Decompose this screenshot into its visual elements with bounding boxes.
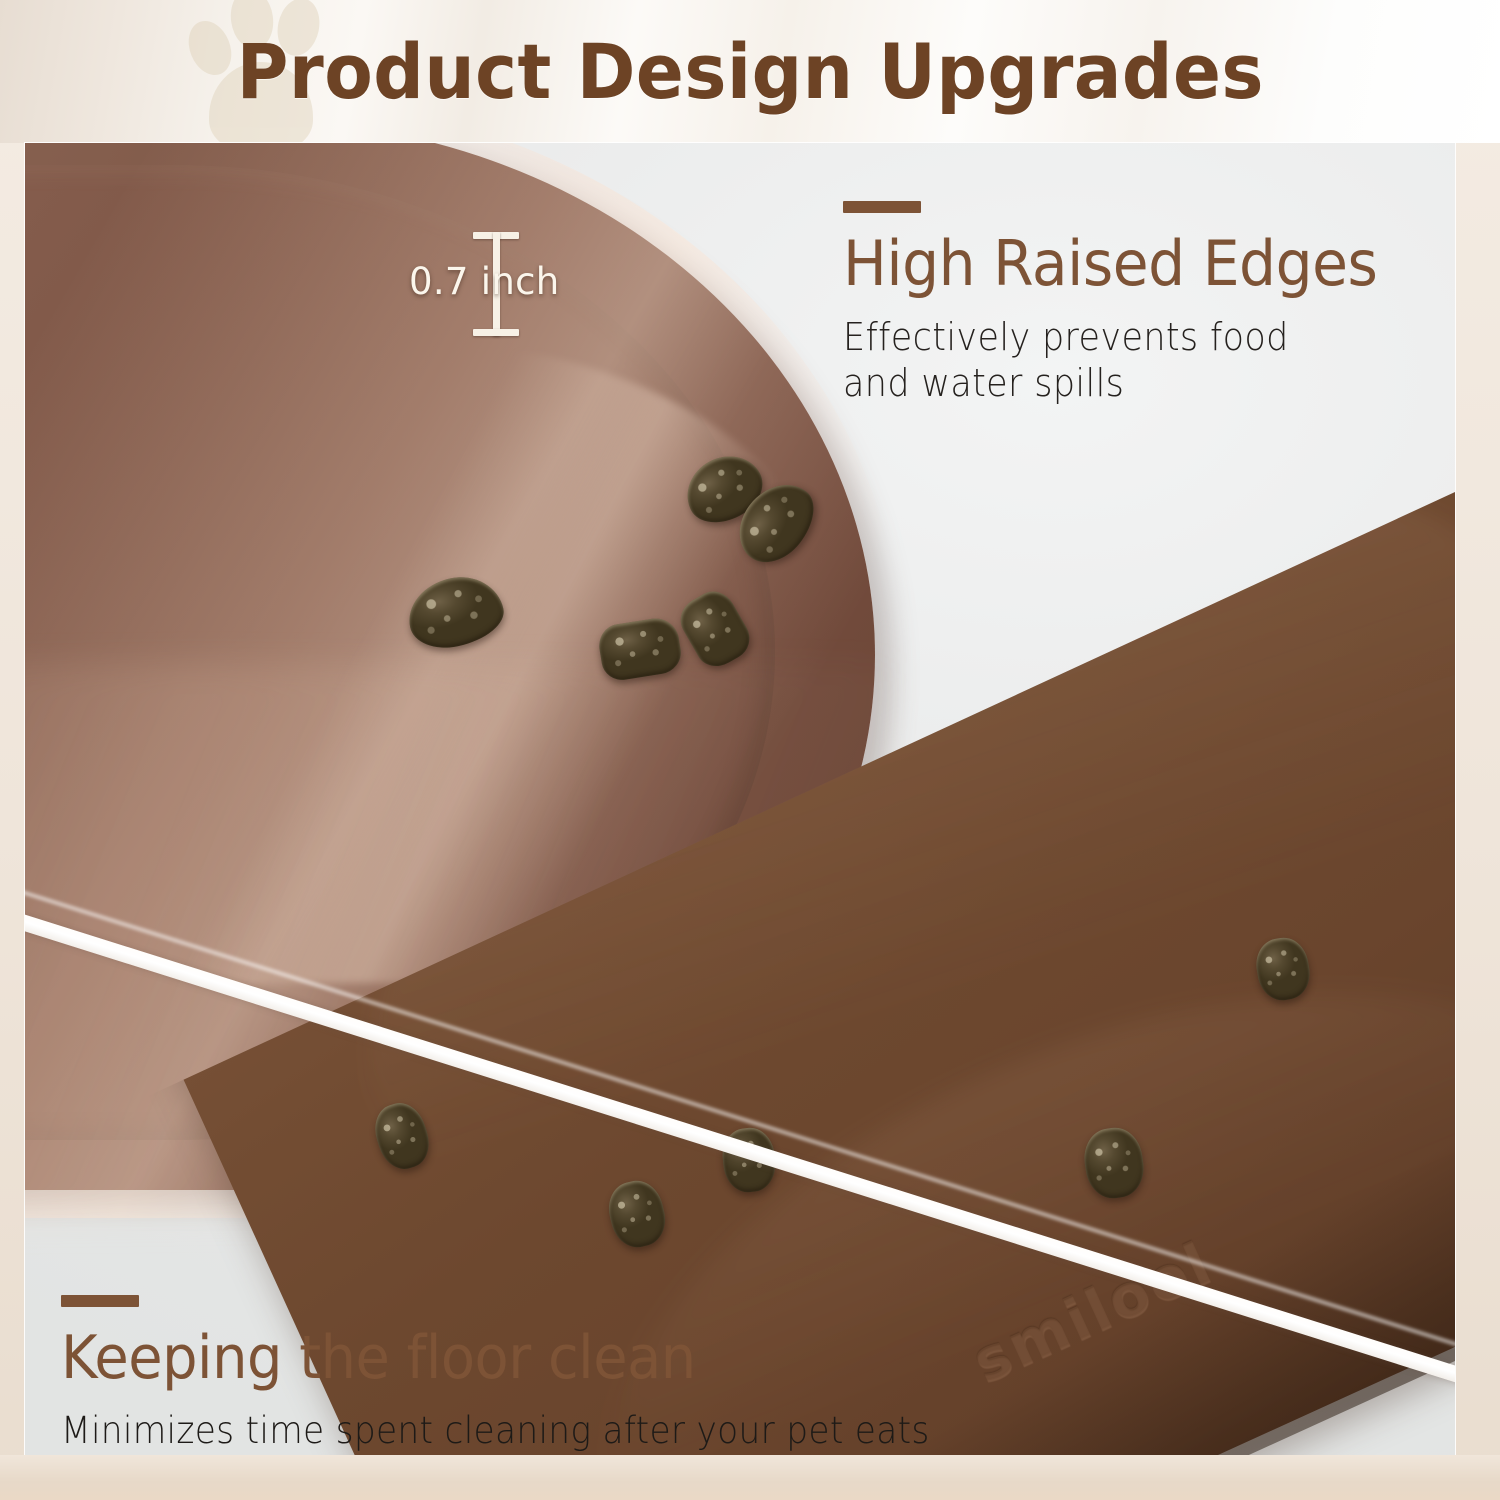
bottom-background-strip bbox=[0, 1455, 1500, 1500]
callout-accent-bar bbox=[61, 1295, 139, 1307]
product-infographic-page: Product Design Upgrades smilool bbox=[0, 0, 1500, 1500]
dimension-tick-bottom bbox=[473, 329, 519, 336]
callout-subtext-line2: and water spills bbox=[843, 360, 1366, 406]
banner: Product Design Upgrades bbox=[0, 0, 1500, 143]
callout-headline: High Raised Edges bbox=[843, 227, 1377, 300]
callout-accent-bar bbox=[843, 201, 921, 213]
callout-subtext-line1: Minimizes time spent cleaning after your… bbox=[61, 1409, 930, 1452]
page-title-text: Product Design Upgrades bbox=[236, 27, 1263, 116]
dimension-label: 0.7 inch bbox=[409, 260, 560, 303]
callout-high-raised-edges: High Raised Edges Effectively prevents f… bbox=[843, 201, 1411, 407]
product-photo-panel: smilool 0.7 inch High Raised Edges Effec… bbox=[25, 143, 1455, 1455]
callout-headline: Keeping the floor clean bbox=[61, 1323, 930, 1393]
callout-keeping-floor-clean: Keeping the floor clean Minimizes time s… bbox=[61, 1295, 995, 1452]
dimension-annotation: 0.7 inch bbox=[425, 228, 685, 348]
callout-subtext-line1: Effectively prevents food bbox=[843, 314, 1366, 360]
page-title: Product Design Upgrades bbox=[0, 0, 1500, 143]
